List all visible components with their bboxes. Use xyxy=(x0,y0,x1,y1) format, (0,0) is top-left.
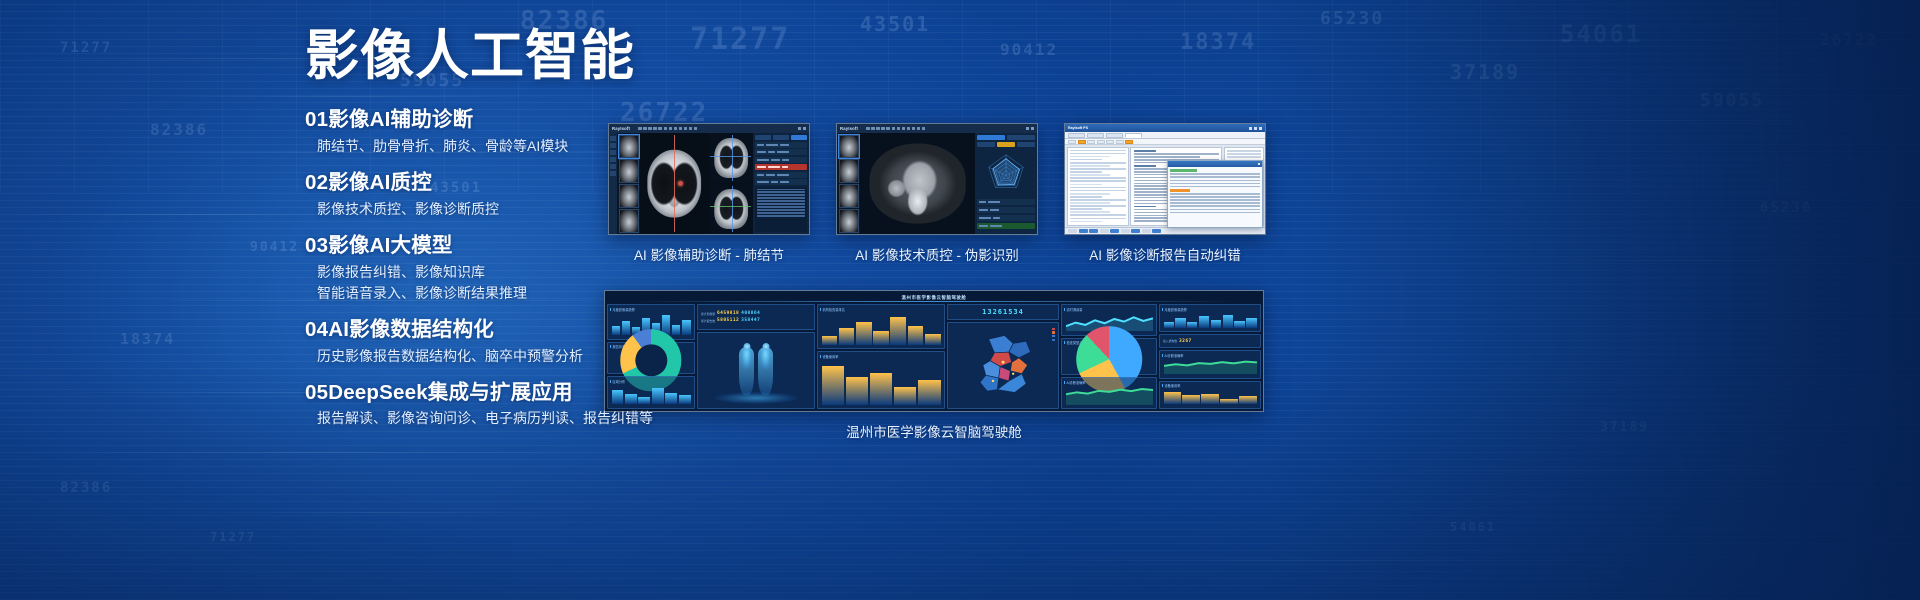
chart-card-institution-rank[interactable]: 机构检查量排名 xyxy=(817,304,945,349)
panel-button[interactable] xyxy=(755,135,771,140)
bar-chart xyxy=(822,314,941,345)
card-body xyxy=(820,312,943,347)
bar xyxy=(1201,394,1218,404)
toolbar-button-highlight[interactable] xyxy=(1125,140,1133,144)
legend-entry xyxy=(1052,331,1055,334)
screenshot-frame: 温州市医学影像云智脑驾驶舱 月度影像量趋势 报告状态分布 xyxy=(604,290,1264,412)
finding-row[interactable] xyxy=(755,179,807,185)
action-button[interactable] xyxy=(1152,229,1161,234)
list-item-01: 01影像AI辅助诊断 肺结节、肋骨骨折、肺炎、骨龄等AI模块 xyxy=(305,107,645,157)
tool-icon[interactable] xyxy=(902,127,905,130)
kpi-value: 3267 xyxy=(1179,339,1192,344)
dashboard-title: 温州市医学影像云智脑驾驶舱 xyxy=(902,295,967,301)
axial-ct-view[interactable] xyxy=(860,133,975,234)
crosshair-vertical xyxy=(674,135,675,232)
tool-icon[interactable] xyxy=(669,127,672,130)
bar xyxy=(1164,322,1174,328)
tool-icon[interactable] xyxy=(694,127,697,130)
panel-button-active[interactable] xyxy=(791,135,807,140)
card-body xyxy=(820,359,943,407)
bar-chart xyxy=(1164,314,1257,328)
list-item-02: 02影像AI质控 影像技术质控、影像诊断质控 xyxy=(305,170,645,220)
window-controls[interactable] xyxy=(1249,127,1262,130)
secondary-views xyxy=(709,133,753,234)
list-item-04: 04AI影像数据结构化 历史影像报告数据结构化、脑卒中预警分析 xyxy=(305,317,645,367)
series-thumbnails[interactable] xyxy=(837,133,860,234)
tool-icon[interactable] xyxy=(664,127,667,130)
metric-row[interactable] xyxy=(977,207,1035,213)
bar xyxy=(822,366,845,404)
chart-card-secondary-volume[interactable]: 月度影像量趋势 xyxy=(1159,304,1261,332)
ai-correction-dialog[interactable] xyxy=(1167,160,1263,228)
human-body-visual-card[interactable] xyxy=(697,332,815,409)
chart-card-accuracy-trend[interactable]: AI诊断准确率 xyxy=(1159,350,1261,378)
total-exams-card[interactable]: 13261534 xyxy=(947,304,1059,320)
sagittal-view[interactable] xyxy=(709,133,753,183)
status-button[interactable] xyxy=(1068,229,1077,234)
navigation-tree[interactable] xyxy=(1067,147,1129,226)
bar xyxy=(1175,318,1185,327)
toolbar-button-highlight[interactable] xyxy=(1078,140,1086,144)
screenshot-report-editor: RayIsoft PS xyxy=(1064,123,1266,235)
tab[interactable] xyxy=(1068,133,1085,138)
glow-platform xyxy=(714,392,798,404)
bar-chart xyxy=(822,361,941,405)
bar xyxy=(822,336,838,345)
app-titlebar: RayIsoft PS xyxy=(1065,124,1265,132)
page-title: 影像人工智能 xyxy=(305,28,645,85)
screenshot-dashboard: 温州市医学影像云智脑驾驶舱 月度影像量趋势 报告状态分布 xyxy=(604,290,1264,412)
bar xyxy=(1211,320,1221,328)
status-bar[interactable] xyxy=(1065,227,1265,234)
bar xyxy=(890,317,906,345)
finding-row[interactable] xyxy=(755,142,807,148)
status-badge-ok xyxy=(1170,169,1197,172)
tool-icon[interactable] xyxy=(653,127,656,130)
tool-icon[interactable] xyxy=(648,127,651,130)
window-controls[interactable] xyxy=(798,127,806,130)
dashboard-column-5: 实时调阅量 检查类型占比 AI诊断准确率 xyxy=(1061,304,1157,409)
feature-title-04: 04AI影像数据结构化 xyxy=(305,317,645,343)
filter-button-active[interactable] xyxy=(997,142,1015,147)
feature-desc-line: 智能语音录入、影像诊断结果推理 xyxy=(317,283,645,304)
bar-chart xyxy=(1164,390,1257,404)
kpi-label: 累计影像量 xyxy=(701,312,715,316)
panel-tab-active[interactable] xyxy=(977,135,1005,140)
bar xyxy=(918,380,941,404)
toolbar-button[interactable] xyxy=(1087,140,1095,144)
app-logo: RayIsoft xyxy=(840,126,858,131)
finding-row[interactable] xyxy=(755,149,807,155)
dashboard-header: 温州市医学影像云智脑驾驶舱 xyxy=(607,293,1261,302)
kpi-row: 接入机构数 3267 xyxy=(1163,339,1257,344)
feature-title-05: 05DeepSeek集成与扩展应用 xyxy=(305,380,645,406)
thumbnail[interactable] xyxy=(839,184,859,207)
kpi-value: 408864 xyxy=(741,311,760,316)
feature-desc-line: 影像报告纠错、影像知识库 xyxy=(317,262,645,283)
screenshot-caption-4: 温州市医学影像云智脑驾驶舱 xyxy=(846,421,1022,441)
content-column: 影像人工智能 01影像AI辅助诊断 肺结节、肋骨骨折、肺炎、骨龄等AI模块 02… xyxy=(305,28,645,442)
bar xyxy=(672,325,680,335)
app-titlebar: RayIsoft xyxy=(837,124,1037,133)
panel-filters[interactable] xyxy=(977,142,1035,147)
kpi-label: 累计报告数 xyxy=(701,319,715,323)
screenshot-caption-2: AI 影像技术质控 - 伪影识别 xyxy=(855,244,1019,264)
bar xyxy=(856,322,872,345)
dashboard-body: 月度影像量趋势 报告状态分布 区域分布 xyxy=(607,304,1261,409)
tool-icon[interactable] xyxy=(917,127,920,130)
tool-icon[interactable] xyxy=(922,127,925,130)
findings-panel[interactable] xyxy=(753,133,809,234)
dialog-body xyxy=(1168,167,1262,227)
kpi-value: 6459818 xyxy=(717,311,739,316)
window-controls[interactable] xyxy=(1026,127,1034,130)
legend-entry xyxy=(1052,328,1055,331)
tool-icon[interactable] xyxy=(689,127,692,130)
feature-desc-line: 历史影像报告数据结构化、脑卒中预警分析 xyxy=(317,346,645,367)
screenshot-frame: RayIsoft PS xyxy=(1064,123,1266,235)
viewer-body xyxy=(837,133,1037,234)
institution-count-card[interactable]: 接入机构数 3267 xyxy=(1159,334,1261,348)
bar xyxy=(679,395,691,404)
action-button[interactable] xyxy=(1131,229,1140,234)
dashboard-column-2: 累计影像量 6459818 408864 累计报告数 5805112 35844… xyxy=(697,304,815,409)
ct-slice xyxy=(869,143,966,224)
tool-icon[interactable] xyxy=(912,127,915,130)
card-body xyxy=(1162,312,1259,330)
action-button[interactable] xyxy=(1121,229,1130,234)
bar xyxy=(846,377,869,405)
feature-desc-05: 报告解读、影像咨询问诊、电子病历判读、报告纠错等 xyxy=(317,408,645,429)
tool-icon[interactable] xyxy=(674,127,677,130)
minimize-icon[interactable] xyxy=(1249,127,1252,130)
feature-list: 01影像AI辅助诊断 肺结节、肋骨骨折、肺炎、骨龄等AI模块 02影像AI质控 … xyxy=(305,107,645,429)
metric-row-ok[interactable] xyxy=(977,223,1035,229)
close-icon[interactable] xyxy=(803,127,806,130)
bar xyxy=(1223,315,1233,328)
card-body xyxy=(1064,345,1155,372)
bar xyxy=(665,393,677,405)
dashboard-column-4: 13261534 xyxy=(947,304,1059,409)
toolbar-icons[interactable] xyxy=(638,127,697,130)
feature-desc-02: 影像技术质控、影像诊断质控 xyxy=(317,199,645,220)
feature-desc-01: 肺结节、肋骨骨折、肺炎、骨龄等AI模块 xyxy=(317,136,645,157)
feature-desc-04: 历史影像报告数据结构化、脑卒中预警分析 xyxy=(317,346,645,367)
report-app: RayIsoft PS xyxy=(1065,124,1265,234)
bar xyxy=(1220,399,1237,405)
panel-tab[interactable] xyxy=(1007,135,1035,140)
tool-icon[interactable] xyxy=(907,127,910,130)
filter-button[interactable] xyxy=(1017,142,1035,147)
feature-desc-line: 报告解读、影像咨询问诊、电子病历判读、报告纠错等 xyxy=(317,408,645,429)
action-button[interactable] xyxy=(1079,229,1088,234)
bar xyxy=(1182,395,1199,404)
body-figure xyxy=(739,347,754,395)
body-figure xyxy=(758,347,773,395)
toolbar-button[interactable] xyxy=(1068,140,1076,144)
bar xyxy=(870,373,893,404)
kpi-row: 累计影像量 6459818 408864 xyxy=(701,311,811,316)
finding-row[interactable] xyxy=(755,172,807,178)
bar xyxy=(873,331,889,345)
toolbar-button[interactable] xyxy=(1116,140,1124,144)
dashboard-column-6: 月度影像量趋势 接入机构数 3267 AI诊断准确率 xyxy=(1159,304,1261,409)
maximize-icon[interactable] xyxy=(1254,127,1257,130)
panel-tabs[interactable] xyxy=(977,135,1035,140)
tab-active[interactable] xyxy=(1125,133,1142,138)
bar xyxy=(839,328,855,345)
bar xyxy=(1187,322,1197,327)
filter-button[interactable] xyxy=(977,142,995,147)
feature-title-03: 03影像AI大模型 xyxy=(305,233,645,259)
card-body xyxy=(700,335,813,407)
wenzhou-map[interactable] xyxy=(950,325,1057,407)
thumbnail[interactable] xyxy=(839,209,859,232)
quality-radar-chart xyxy=(977,149,1035,197)
screenshot-caption-3: AI 影像诊断报告自动纠错 xyxy=(1089,244,1241,264)
bar xyxy=(1199,316,1209,327)
bar xyxy=(652,388,664,404)
ct-quality-app: RayIsoft xyxy=(837,124,1037,234)
feature-desc-line: 肺结节、肋骨骨折、肺炎、骨龄等AI模块 xyxy=(317,136,645,157)
toolbar-icons[interactable] xyxy=(866,127,925,130)
tool-icon[interactable] xyxy=(871,127,874,130)
tool-icon[interactable] xyxy=(684,127,687,130)
axial-ct-view[interactable] xyxy=(640,133,709,234)
action-button[interactable] xyxy=(1100,229,1109,234)
kpi-label: 接入机构数 xyxy=(1163,339,1177,343)
action-button[interactable] xyxy=(1110,229,1119,234)
tool-icon[interactable] xyxy=(679,127,682,130)
tool-icon[interactable] xyxy=(892,127,895,130)
card-body xyxy=(1064,385,1155,407)
image-area[interactable] xyxy=(640,133,753,234)
thumbnail[interactable] xyxy=(839,135,859,158)
kpi-row: 累计报告数 5805112 358447 xyxy=(701,318,811,323)
close-icon[interactable] xyxy=(1258,163,1261,166)
map-card[interactable] xyxy=(947,322,1059,409)
line-chart xyxy=(1066,387,1153,405)
thumbnail[interactable] xyxy=(839,159,859,182)
tool-icon[interactable] xyxy=(866,127,869,130)
bar xyxy=(1239,396,1256,404)
kpi-card[interactable]: 累计影像量 6459818 408864 累计报告数 5805112 35844… xyxy=(697,304,815,330)
tab[interactable] xyxy=(1087,133,1104,138)
chart-card-exam-type[interactable]: 检查类型占比 xyxy=(1061,338,1157,375)
tab-bar[interactable] xyxy=(1065,132,1265,139)
quality-panel[interactable] xyxy=(975,133,1037,234)
crosshair-horizontal xyxy=(710,206,751,207)
card-body xyxy=(950,325,1057,407)
feature-desc-03: 影像报告纠错、影像知识库 智能语音录入、影像诊断结果推理 xyxy=(317,262,645,304)
tool-icon[interactable] xyxy=(881,127,884,130)
report-text-block xyxy=(755,187,807,233)
bar xyxy=(1246,318,1256,328)
minimize-icon[interactable] xyxy=(798,127,801,130)
crosshair-vertical xyxy=(732,186,733,232)
feature-title-01: 01影像AI辅助诊断 xyxy=(305,107,645,133)
card-body xyxy=(1162,388,1259,406)
bar xyxy=(925,334,941,345)
tab[interactable] xyxy=(1106,133,1123,138)
screenshot-frame: RayIsoft xyxy=(836,123,1038,235)
list-item-03: 03影像AI大模型 影像报告纠错、影像知识库 智能语音录入、影像诊断结果推理 xyxy=(305,233,645,304)
status-badge-warn xyxy=(1170,189,1190,192)
bar xyxy=(908,326,924,345)
panel-button[interactable] xyxy=(773,135,789,140)
total-exams-value: 13261534 xyxy=(982,308,1024,316)
toolbar-button[interactable] xyxy=(1097,140,1105,144)
bi-dashboard: 温州市医学影像云智脑驾驶舱 月度影像量趋势 报告状态分布 xyxy=(605,291,1263,411)
coronal-view[interactable] xyxy=(709,184,753,234)
dashboard-column-3: 机构检查量排名 设备使用率 xyxy=(817,304,945,409)
close-icon[interactable] xyxy=(1031,127,1034,130)
map-legend xyxy=(1052,328,1055,342)
chart-card-device[interactable]: 设备使用率 xyxy=(1159,381,1261,409)
crosshair-vertical xyxy=(732,135,733,181)
screenshot-ct-quality: RayIsoft xyxy=(836,123,1038,235)
legend-entry xyxy=(1052,335,1055,338)
feature-title-02: 02影像AI质控 xyxy=(305,170,645,196)
bar xyxy=(894,387,917,404)
tool-icon[interactable] xyxy=(658,127,661,130)
list-item-05: 05DeepSeek集成与扩展应用 报告解读、影像咨询问诊、电子病历判读、报告纠… xyxy=(305,380,645,430)
app-logo: RayIsoft PS xyxy=(1068,126,1088,130)
crosshair-horizontal xyxy=(710,156,751,157)
legend-entry xyxy=(1052,339,1055,342)
kpi-value: 5805112 xyxy=(717,318,739,323)
tool-icon[interactable] xyxy=(886,127,889,130)
bar xyxy=(1234,321,1244,328)
line-chart xyxy=(1164,360,1257,374)
finding-row[interactable] xyxy=(755,157,807,163)
metric-row[interactable] xyxy=(977,199,1035,205)
bar xyxy=(1164,392,1181,405)
action-button[interactable] xyxy=(1089,229,1098,234)
tool-icon[interactable] xyxy=(876,127,879,130)
card-body xyxy=(1162,358,1259,376)
minimize-icon[interactable] xyxy=(1026,127,1029,130)
screenshot-caption-1: AI 影像辅助诊断 - 肺结节 xyxy=(634,244,784,264)
toolbar-button[interactable] xyxy=(1106,140,1114,144)
chart-card-ai-accuracy[interactable]: AI诊断准确率 xyxy=(1061,377,1157,409)
kpi-value: 358447 xyxy=(741,318,760,323)
chart-card-device-usage[interactable]: 设备使用率 xyxy=(817,351,945,409)
close-icon[interactable] xyxy=(1259,127,1262,130)
finding-row-alert[interactable] xyxy=(755,164,807,170)
feature-desc-line: 影像技术质控、影像诊断质控 xyxy=(317,199,645,220)
panel-buttons[interactable] xyxy=(755,135,807,140)
bar xyxy=(682,320,690,335)
metric-row[interactable] xyxy=(977,215,1035,221)
action-button[interactable] xyxy=(1142,229,1151,234)
tool-icon[interactable] xyxy=(897,127,900,130)
